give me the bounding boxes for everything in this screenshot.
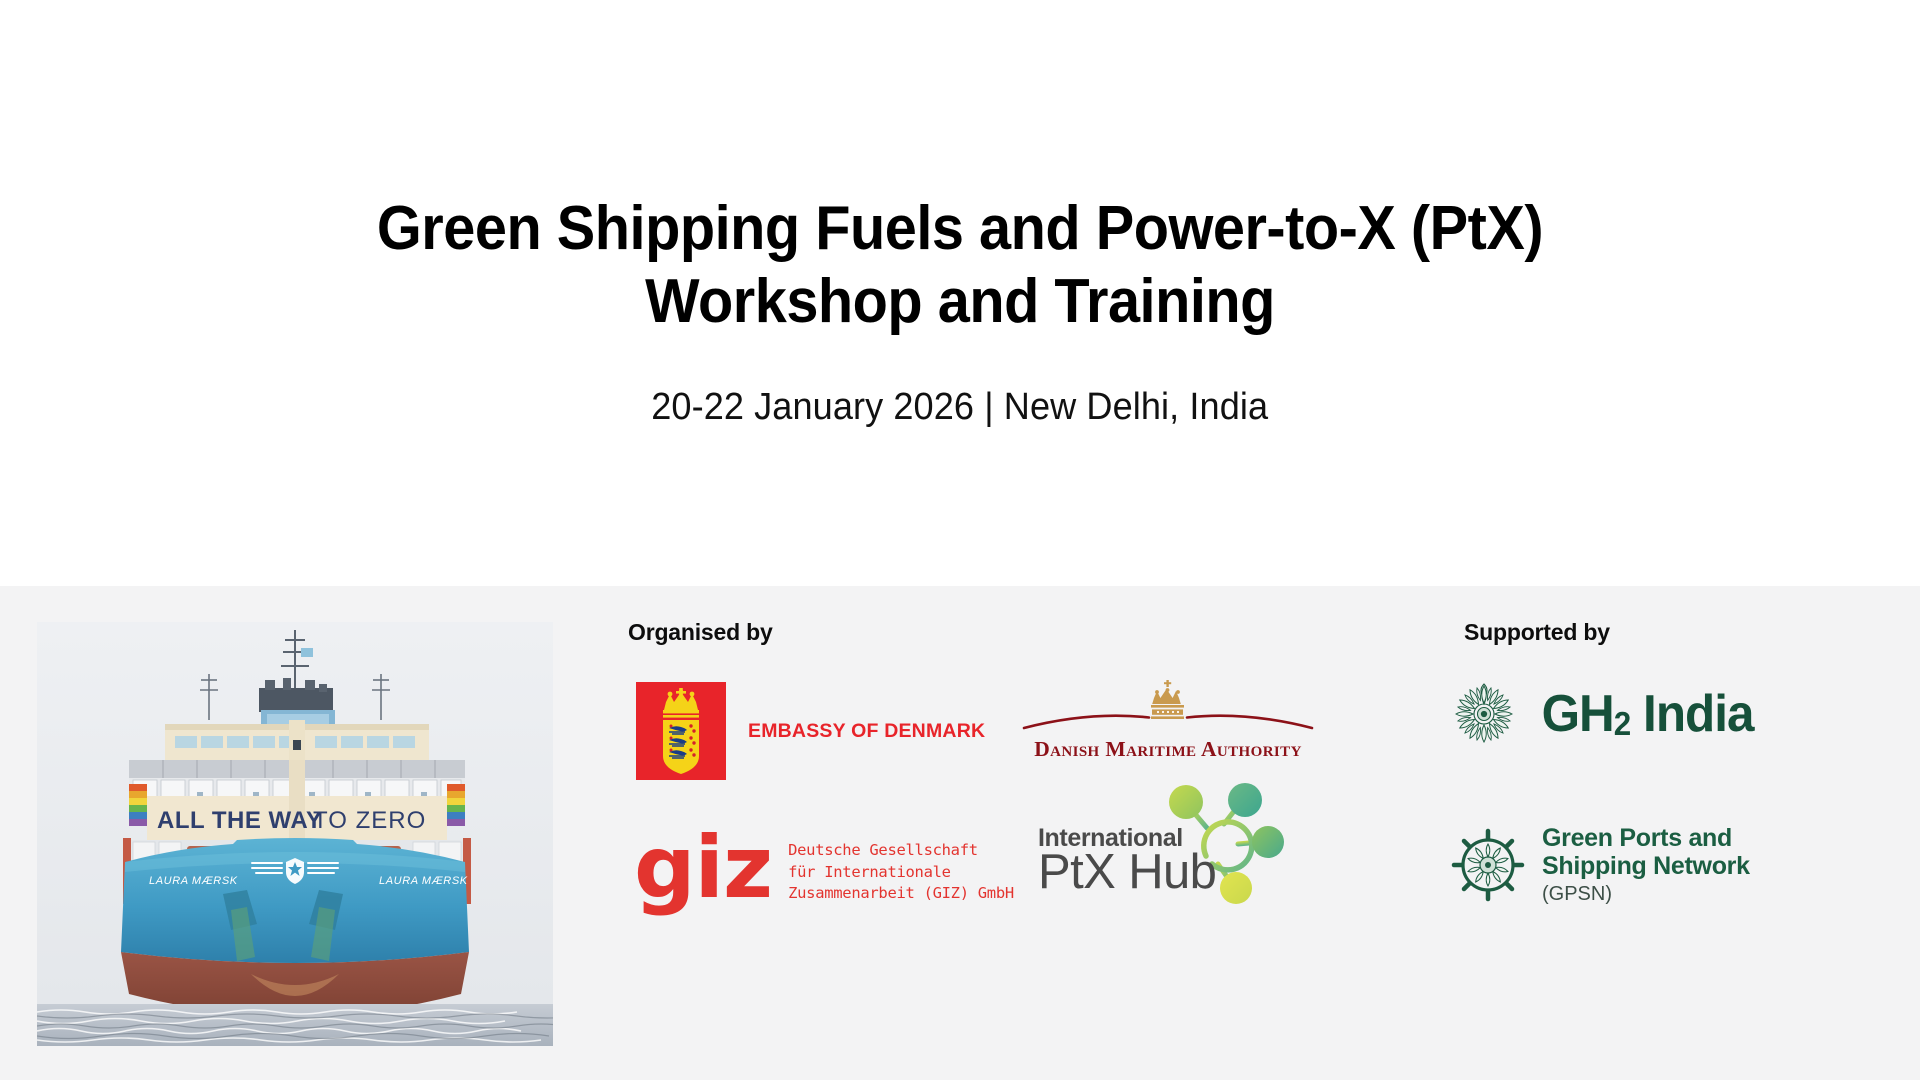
gpsn-line-1: Green Ports and bbox=[1542, 824, 1750, 852]
danish-maritime-authority-label: Danish Maritime Authority bbox=[1018, 737, 1318, 762]
logo-giz[interactable]: giz Deutsche Gesellschaft für Internatio… bbox=[634, 838, 1014, 907]
gpsn-line-3: (GPSN) bbox=[1542, 883, 1750, 906]
event-date-location: 20-22 January 2026 | New Delhi, India bbox=[652, 386, 1269, 429]
gh2-text-part1: GH bbox=[1542, 685, 1614, 743]
partners-section: ALL THE WAY TO ZERO bbox=[0, 586, 1920, 1080]
page-title-line-2: Workshop and Training bbox=[645, 267, 1275, 336]
ships-wheel-mandala-icon bbox=[1450, 827, 1526, 903]
logo-gh2-india[interactable]: GH2 India bbox=[1448, 678, 1759, 750]
gh2-text-part2: India bbox=[1630, 685, 1753, 743]
ptx-hub-line-2: PtX Hub bbox=[1038, 848, 1216, 897]
logo-international-ptx-hub[interactable]: International PtX Hub bbox=[1038, 782, 1288, 912]
ship-photo: ALL THE WAY TO ZERO bbox=[37, 622, 553, 1046]
denmark-coat-of-arms-icon bbox=[636, 682, 726, 780]
organised-by-heading: Organised by bbox=[628, 619, 773, 646]
giz-subtitle: Deutsche Gesellschaft für Internationale… bbox=[788, 840, 1014, 904]
giz-subtitle-line-2: für Internationale bbox=[788, 862, 1014, 883]
svg-text:LAURA MÆRSK: LAURA MÆRSK bbox=[149, 875, 238, 887]
logo-danish-maritime-authority[interactable]: Danish Maritime Authority bbox=[1018, 678, 1318, 762]
page-title-line-1: Green Shipping Fuels and Power-to-X (PtX… bbox=[377, 194, 1543, 263]
gh2-mandala-icon bbox=[1448, 678, 1520, 750]
logo-embassy-of-denmark[interactable]: EMBASSY OF DENMARK bbox=[636, 682, 985, 780]
gpsn-line-2: Shipping Network bbox=[1542, 852, 1750, 880]
svg-text:LAURA MÆRSK: LAURA MÆRSK bbox=[379, 875, 468, 887]
svg-text:ALL THE WAY: ALL THE WAY bbox=[157, 807, 323, 834]
embassy-of-denmark-label: EMBASSY OF DENMARK bbox=[748, 720, 985, 743]
giz-wordmark: giz bbox=[634, 834, 772, 903]
danish-crown-icon bbox=[1018, 678, 1318, 736]
svg-text:TO ZERO: TO ZERO bbox=[313, 807, 426, 834]
giz-subtitle-line-1: Deutsche Gesellschaft bbox=[788, 840, 1014, 861]
supported-by-heading: Supported by bbox=[1464, 619, 1610, 646]
logo-green-ports-shipping-network[interactable]: Green Ports and Shipping Network (GPSN) bbox=[1450, 824, 1750, 905]
giz-subtitle-line-3: Zusammenarbeit (GIZ) GmbH bbox=[788, 883, 1014, 904]
gh2-india-label: GH2 India bbox=[1542, 684, 1754, 744]
slide-root: Green Shipping Fuels and Power-to-X (PtX… bbox=[0, 0, 1920, 1080]
gh2-subscript: 2 bbox=[1614, 705, 1630, 742]
hero-section: Green Shipping Fuels and Power-to-X (PtX… bbox=[0, 0, 1920, 586]
page-title: Green Shipping Fuels and Power-to-X (PtX… bbox=[377, 193, 1543, 338]
